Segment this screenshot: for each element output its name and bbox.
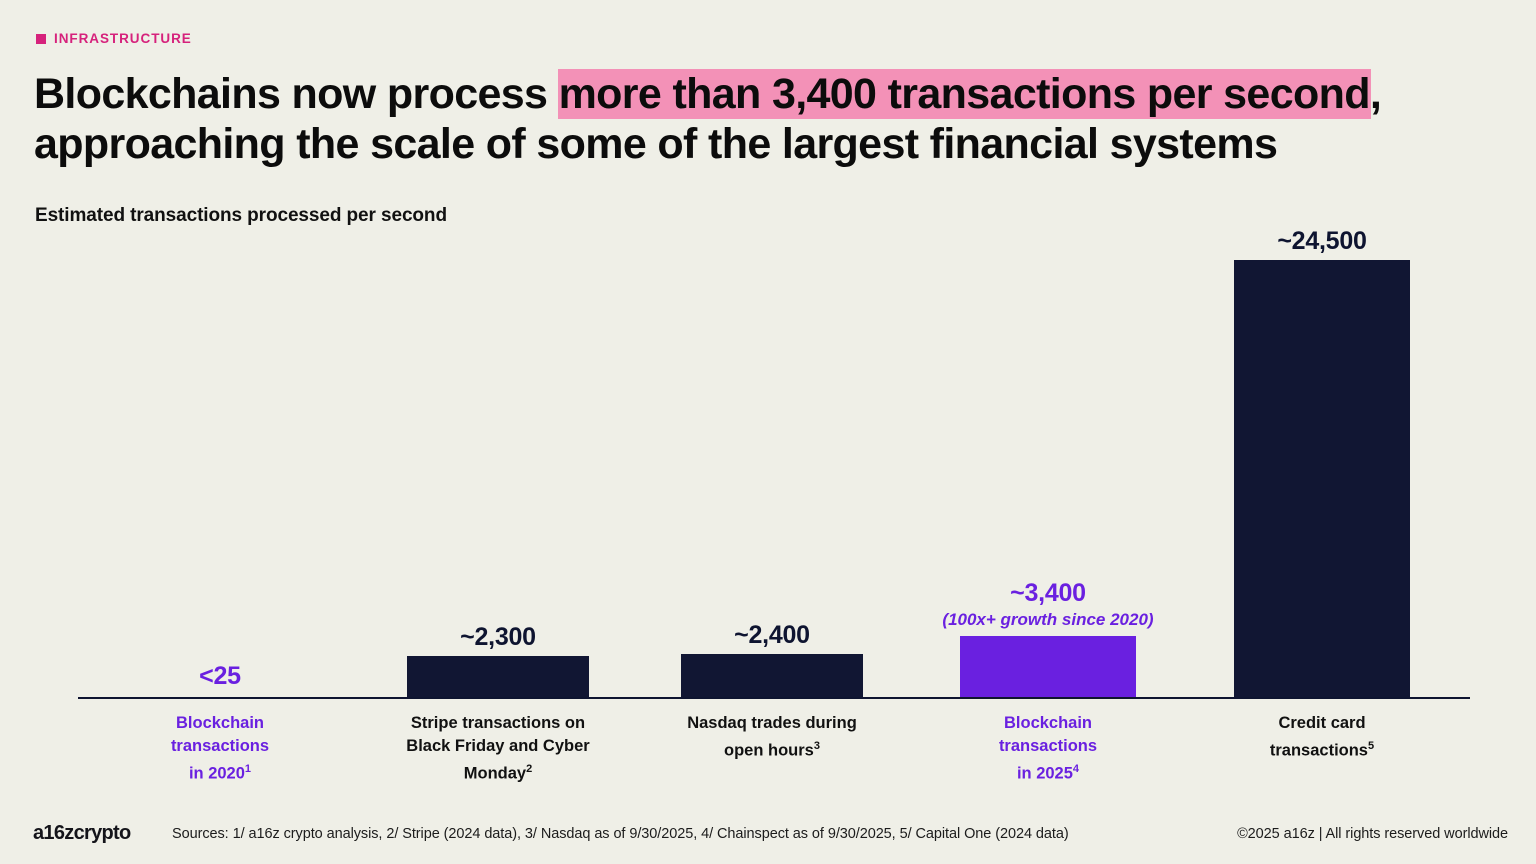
bar-category-line: Credit card [1278, 714, 1365, 732]
sources-note: Sources: 1/ a16z crypto analysis, 2/ Str… [172, 826, 1069, 842]
bar-value-label: ~2,300 [460, 623, 536, 652]
bar-category-label: Nasdaq trades duringopen hours3 [667, 712, 877, 763]
bar-category-label: Blockchaintransactionsin 20254 [946, 712, 1150, 786]
square-bullet-icon [36, 34, 46, 44]
bar-chart: <25~2,300~2,400~3,400(100x+ growth since… [78, 260, 1470, 800]
bar-category-line: Monday [464, 765, 526, 783]
copyright-note: ©2025 a16z | All rights reserved worldwi… [1237, 826, 1508, 842]
bar-category-label: Stripe transactions onBlack Friday and C… [393, 712, 603, 786]
bar-category-line: transactions [999, 737, 1097, 755]
bar-annotation: (100x+ growth since 2020) [942, 610, 1153, 630]
bar-rect [960, 636, 1136, 697]
bar-column: ~2,300 [407, 260, 589, 697]
category-label: INFRASTRUCTURE [54, 31, 192, 46]
bar-column: ~2,400 [681, 260, 863, 697]
bar-category-line: transactions [1270, 742, 1368, 760]
chart-baseline-axis [78, 697, 1470, 699]
headline-plain-1: Blockchains now process [34, 70, 559, 118]
bar-value-label: <25 [199, 662, 241, 691]
bar-category-line: Stripe transactions on [411, 714, 585, 732]
footnote-marker: 4 [1073, 763, 1079, 775]
bar-value-label: ~24,500 [1277, 227, 1366, 256]
bar-category-line: in 2025 [1017, 765, 1073, 783]
bar-category-label: Credit cardtransactions5 [1220, 712, 1424, 763]
bar-rect [407, 656, 589, 697]
category-eyebrow: INFRASTRUCTURE [36, 31, 192, 46]
bar-category-line: Blockchain [176, 714, 264, 732]
bar-rect [1234, 260, 1410, 697]
bar-category-line: in 2020 [189, 765, 245, 783]
bar-column: ~24,500 [1234, 260, 1410, 697]
footnote-marker: 1 [245, 763, 251, 775]
a16zcrypto-logo: a16zcrypto [33, 822, 131, 845]
bar-column: <25 [129, 260, 311, 697]
chart-plot-area: <25~2,300~2,400~3,400(100x+ growth since… [78, 260, 1470, 697]
page-title: Blockchains now process more than 3,400 … [34, 69, 1484, 169]
headline-line-2: approaching the scale of some of the lar… [34, 119, 1484, 169]
headline-plain-2: , [1370, 70, 1381, 118]
headline-highlight: more than 3,400 transactions per second [559, 70, 1370, 118]
bar-value-label: ~2,400 [734, 621, 810, 650]
footnote-marker: 3 [814, 740, 820, 752]
bar-category-line: transactions [171, 737, 269, 755]
chart-subtitle: Estimated transactions processed per sec… [35, 205, 447, 227]
bar-category-line: open hours [724, 742, 814, 760]
footnote-marker: 2 [526, 763, 532, 775]
slide-footer: a16zcrypto Sources: 1/ a16z crypto analy… [0, 806, 1536, 864]
bar-category-line: Black Friday and Cyber [406, 737, 589, 755]
bar-column: ~3,400(100x+ growth since 2020) [960, 260, 1136, 697]
bar-rect [681, 654, 863, 697]
bar-category-line: Blockchain [1004, 714, 1092, 732]
bar-category-line: Nasdaq trades during [687, 714, 857, 732]
headline-line-1: Blockchains now process more than 3,400 … [34, 69, 1484, 119]
footnote-marker: 5 [1368, 740, 1374, 752]
bar-category-label: Blockchaintransactionsin 20201 [115, 712, 325, 786]
bar-value-label: ~3,400 [1010, 579, 1086, 608]
